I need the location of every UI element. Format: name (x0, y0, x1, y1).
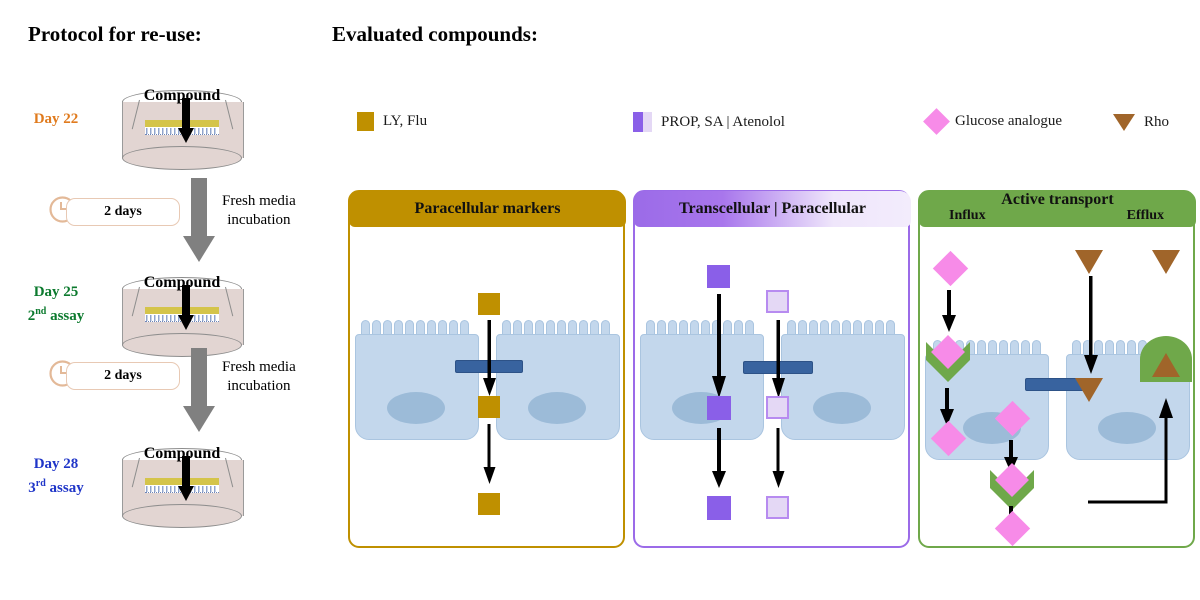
panel-header-paracellular: Paracellular markers (349, 191, 626, 227)
epithelial-cell-left (640, 320, 764, 444)
marker-basolateral-transcellular (707, 496, 731, 520)
compound-label: Compound (117, 274, 247, 292)
legend-item-prop-sa-atenolol: PROP, SA | Atenolol (633, 112, 785, 132)
compound-label: Compound (117, 445, 247, 463)
transition-caption-1-line2: incubation (222, 211, 296, 230)
legend-item-ly-flu: LY, Flu (357, 112, 427, 131)
compound-label: Compound (117, 87, 247, 105)
transition-caption-2-line1: Fresh media (222, 358, 296, 377)
marker-apical-rho-in (1075, 250, 1103, 274)
panel-canvas-active-transport (920, 228, 1195, 548)
cell-body (781, 334, 905, 440)
panel-header-transcellular: Transcellular | Paracellular (634, 191, 911, 227)
day-label-25: Day 25 2nd assay (16, 283, 96, 326)
transition-caption-2: Fresh media incubation (222, 358, 296, 396)
day-28-line1: Day 28 (16, 455, 96, 474)
marker-intracellular-transcellular (707, 396, 731, 420)
transport-arrow-transcellular-lower (709, 428, 731, 490)
legend-label-ly-flu: LY, Flu (383, 113, 427, 130)
panel-canvas-paracellular (350, 228, 625, 548)
marker-intercellular-paracellular (766, 396, 789, 419)
panel-canvas-transcellular (635, 228, 910, 548)
legend-label-prop-sa-atenolol: PROP, SA | Atenolol (661, 114, 785, 131)
marker-apical-glucose (933, 251, 968, 286)
marker-effluxed-rho (1152, 250, 1180, 274)
epithelial-cell-right (496, 320, 620, 444)
process-arrow-2 (180, 348, 206, 434)
panel-paracellular-markers: Paracellular markers (348, 190, 625, 548)
marker-intercellular-ly (478, 396, 500, 418)
day-28-line2: 3rd assay (16, 474, 96, 498)
down-triangle-icon (1113, 114, 1135, 131)
panel-title-transcellular: Transcellular | Paracellular (679, 200, 866, 218)
transition-caption-1: Fresh media incubation (222, 192, 296, 230)
influx-arrow-apical (940, 290, 960, 334)
cell-body (355, 334, 479, 440)
transwell-well-day25: Compound (117, 277, 247, 355)
protocol-title: Protocol for re-use: (28, 22, 202, 47)
transition-caption-1-line1: Fresh media (222, 192, 296, 211)
process-arrow-1 (180, 178, 206, 264)
cell-body (496, 334, 620, 440)
transport-arrow-paracellular-lower (768, 428, 790, 490)
panel-title-active-transport: Active transport (1001, 191, 1113, 209)
transition-caption-2-line2: incubation (222, 377, 296, 396)
day-label-28: Day 28 3rd assay (16, 455, 96, 498)
day-25-line2: 2nd assay (16, 302, 96, 326)
compounds-title: Evaluated compounds: (332, 22, 538, 47)
nucleus (528, 392, 586, 424)
legend-item-glucose-analogue: Glucose analogue (927, 112, 1062, 131)
incubation-duration-2: 2 days (66, 362, 180, 390)
transwell-well-day28: Compound (117, 448, 247, 526)
transport-arrow-paracellular-upper (768, 320, 790, 400)
split-square-icon (633, 112, 652, 132)
marker-basolateral-paracellular (766, 496, 789, 519)
legend-item-rho: Rho (1113, 114, 1169, 131)
transport-arrow-transcellular-upper (709, 294, 731, 400)
day-label-22: Day 22 (16, 110, 96, 129)
well-base (122, 146, 242, 170)
transport-arrow-paracellular-lower (479, 424, 501, 486)
nucleus (813, 392, 871, 424)
efflux-arrow-in (1082, 276, 1102, 376)
transwell-well-day22: Compound (117, 90, 247, 168)
marker-apical-ly (478, 293, 500, 315)
efflux-path-arrow (1080, 398, 1190, 518)
filled-square-icon (357, 112, 374, 131)
legend-label-glucose-analogue: Glucose analogue (955, 113, 1062, 130)
marker-basolateral-ly (478, 493, 500, 515)
nucleus (387, 392, 445, 424)
marker-rho-at-efflux-pump (1152, 353, 1180, 377)
marker-apical-transcellular (707, 265, 730, 288)
legend-label-rho: Rho (1144, 114, 1169, 131)
marker-apical-paracellular (766, 290, 789, 313)
epithelial-cell-right (781, 320, 905, 444)
panel-subtitle-influx: Influx (949, 208, 986, 224)
marker-basolateral-glucose (995, 511, 1030, 546)
diamond-icon (923, 108, 950, 135)
epithelial-cell-left (355, 320, 479, 444)
transport-arrow-paracellular-upper (479, 320, 501, 398)
panel-header-active-transport: Active transport Influx Efflux (919, 191, 1196, 227)
panel-subtitle-efflux: Efflux (1127, 208, 1164, 224)
panel-active-transport: Active transport Influx Efflux (918, 190, 1195, 548)
panel-transcellular-paracellular: Transcellular | Paracellular (633, 190, 910, 548)
panel-title-paracellular: Paracellular markers (415, 200, 561, 218)
cell-body (640, 334, 764, 440)
day-25-line1: Day 25 (16, 283, 96, 302)
incubation-duration-1: 2 days (66, 198, 180, 226)
well-base (122, 504, 242, 528)
